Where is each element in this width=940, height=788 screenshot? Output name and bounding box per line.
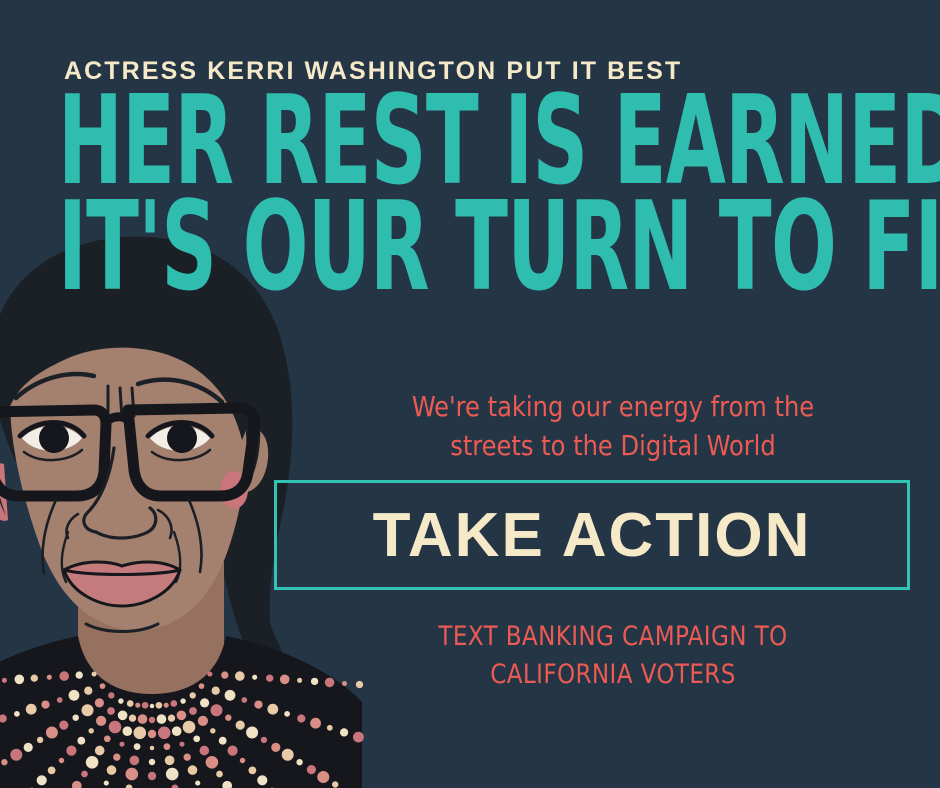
take-action-button[interactable]: TAKE ACTION (274, 480, 910, 590)
footnote-block: TEXT BANKING CAMPAIGN TO CALIFORNIA VOTE… (347, 618, 879, 695)
footnote-line-1: TEXT BANKING CAMPAIGN TO (347, 618, 879, 656)
subtitle-block: We're taking our energy from the streets… (344, 388, 882, 465)
take-action-label: TAKE ACTION (373, 500, 812, 571)
poster-canvas: ACTRESS KERRI WASHINGTON PUT IT BEST HER… (0, 0, 940, 788)
footnote-line-2: CALIFORNIA VOTERS (347, 656, 879, 694)
subtitle-line-1: We're taking our energy from the (344, 388, 882, 427)
headline-line-2: IT'S OUR TURN TO FIGHT. (58, 196, 940, 299)
subtitle-line-2: streets to the Digital World (344, 427, 882, 466)
